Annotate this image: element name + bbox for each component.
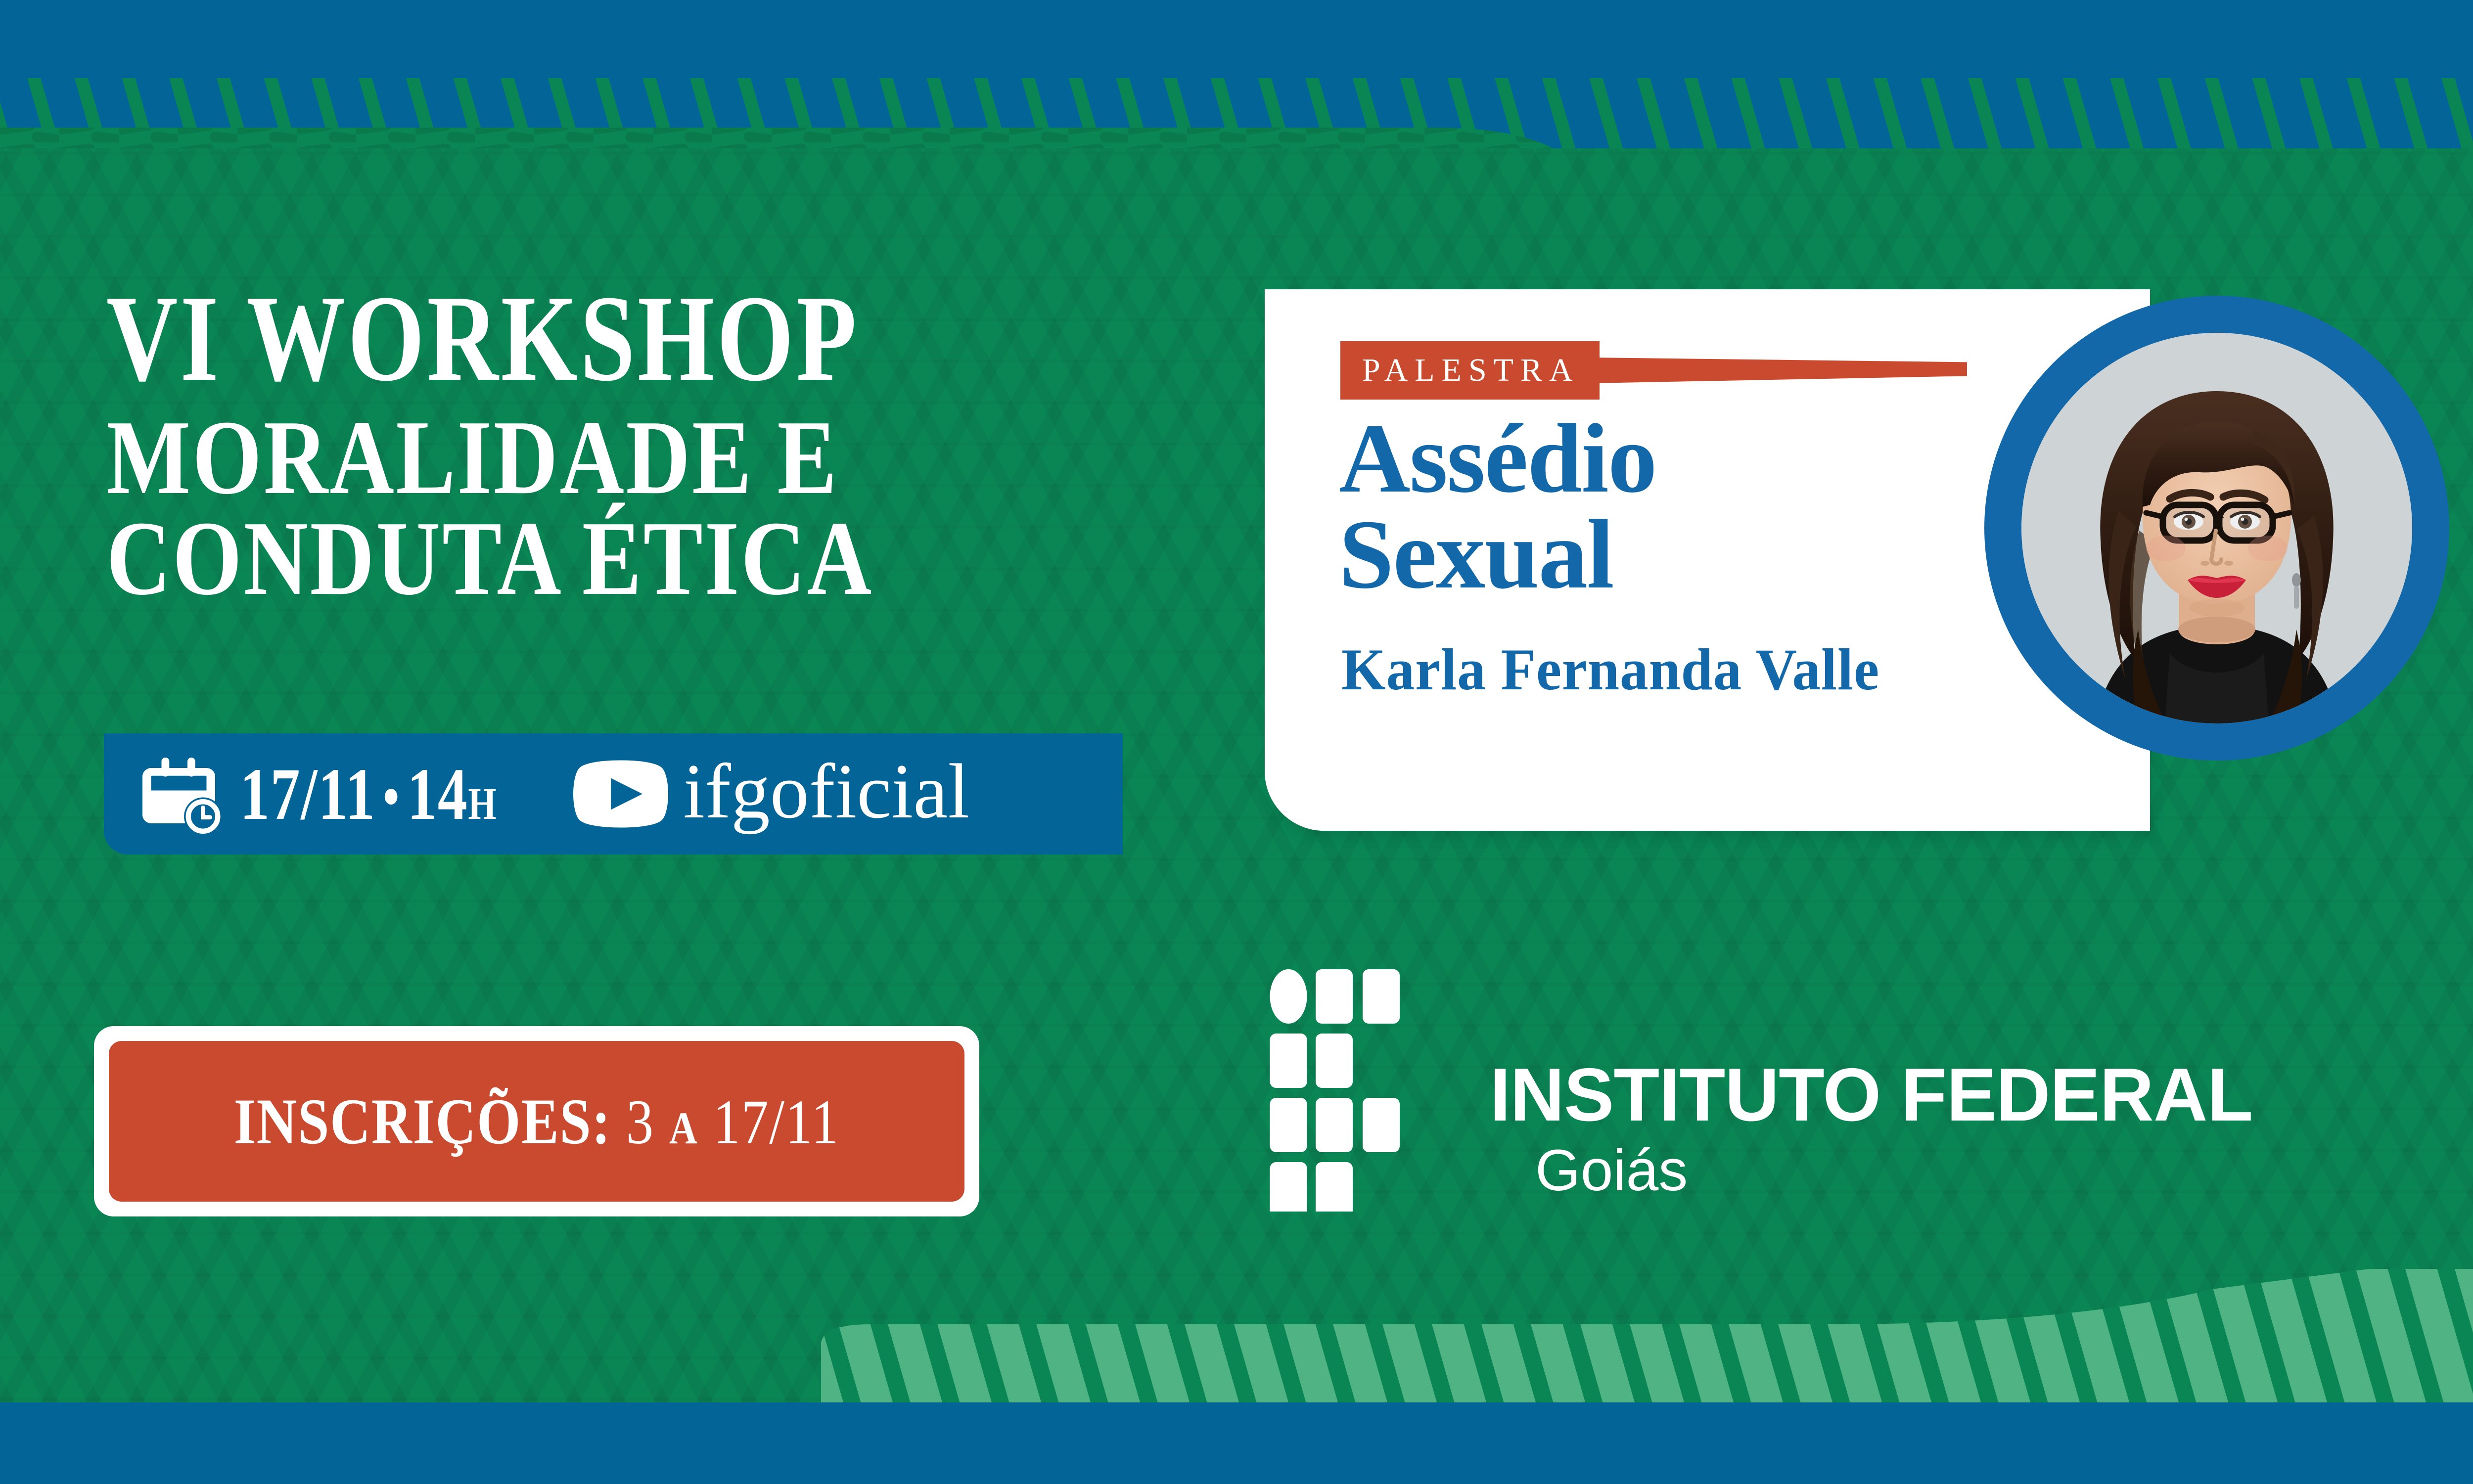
speaker-name: Karla Fernanda Valle [1341,635,1879,704]
date-and-channel-bar: 17/11•14H ifgoficial [104,733,1123,854]
registration-text: INSCRIÇÕES: 3 A 17/11 [234,1083,839,1159]
lecture-topic-line-1: Assédio [1339,411,1656,507]
lecture-topic: Assédio Sexual [1339,411,1656,603]
registration-button[interactable]: INSCRIÇÕES: 3 A 17/11 [94,1026,979,1216]
headline-line-3: CONDUTA ÉTICA [106,509,979,607]
institution-campus: Goiás [1535,1137,2252,1205]
event-date: 17/11 [240,753,376,835]
tapered-rule-icon [1591,358,1967,383]
avatar [1984,296,2449,761]
youtube-channel-name[interactable]: ifgoficial [683,747,969,837]
calendar-clock-icon [142,751,229,837]
event-time-unit: H [468,778,497,829]
event-time: 14 [407,753,468,835]
registration-label: INSCRIÇÕES: [234,1085,611,1158]
status-badge: PALESTRA [1340,341,1600,400]
institution-logo: INSTITUTO FEDERAL Goiás [1266,969,2252,1212]
datetime-separator: • [376,764,407,829]
event-poster: VI WORKSHOP MORALIDADE E CONDUTA ÉTICA [0,0,2473,1484]
headline-line-1: VI WORKSHOP [106,282,937,396]
youtube-play-icon[interactable] [571,758,670,830]
registration-end: 17/11 [713,1087,839,1157]
registration-button-inner[interactable]: INSCRIÇÕES: 3 A 17/11 [109,1041,964,1202]
lecture-topic-line-2: Sexual [1339,507,1656,603]
speaker-portrait [2021,333,2412,723]
page-title: VI WORKSHOP MORALIDADE E CONDUTA ÉTICA [106,282,1145,607]
instituto-federal-grid-mark-icon [1266,969,1454,1212]
institution-logo-text: INSTITUTO FEDERAL Goiás [1490,1057,2252,1212]
institution-name: INSTITUTO FEDERAL [1490,1057,2252,1132]
avatar-photo-frame [2021,333,2412,723]
event-datetime: 17/11•14H [240,752,497,837]
registration-connector: A [669,1103,698,1153]
registration-start: 3 [626,1087,654,1157]
headline-line-2: MORALIDADE E [106,408,979,506]
